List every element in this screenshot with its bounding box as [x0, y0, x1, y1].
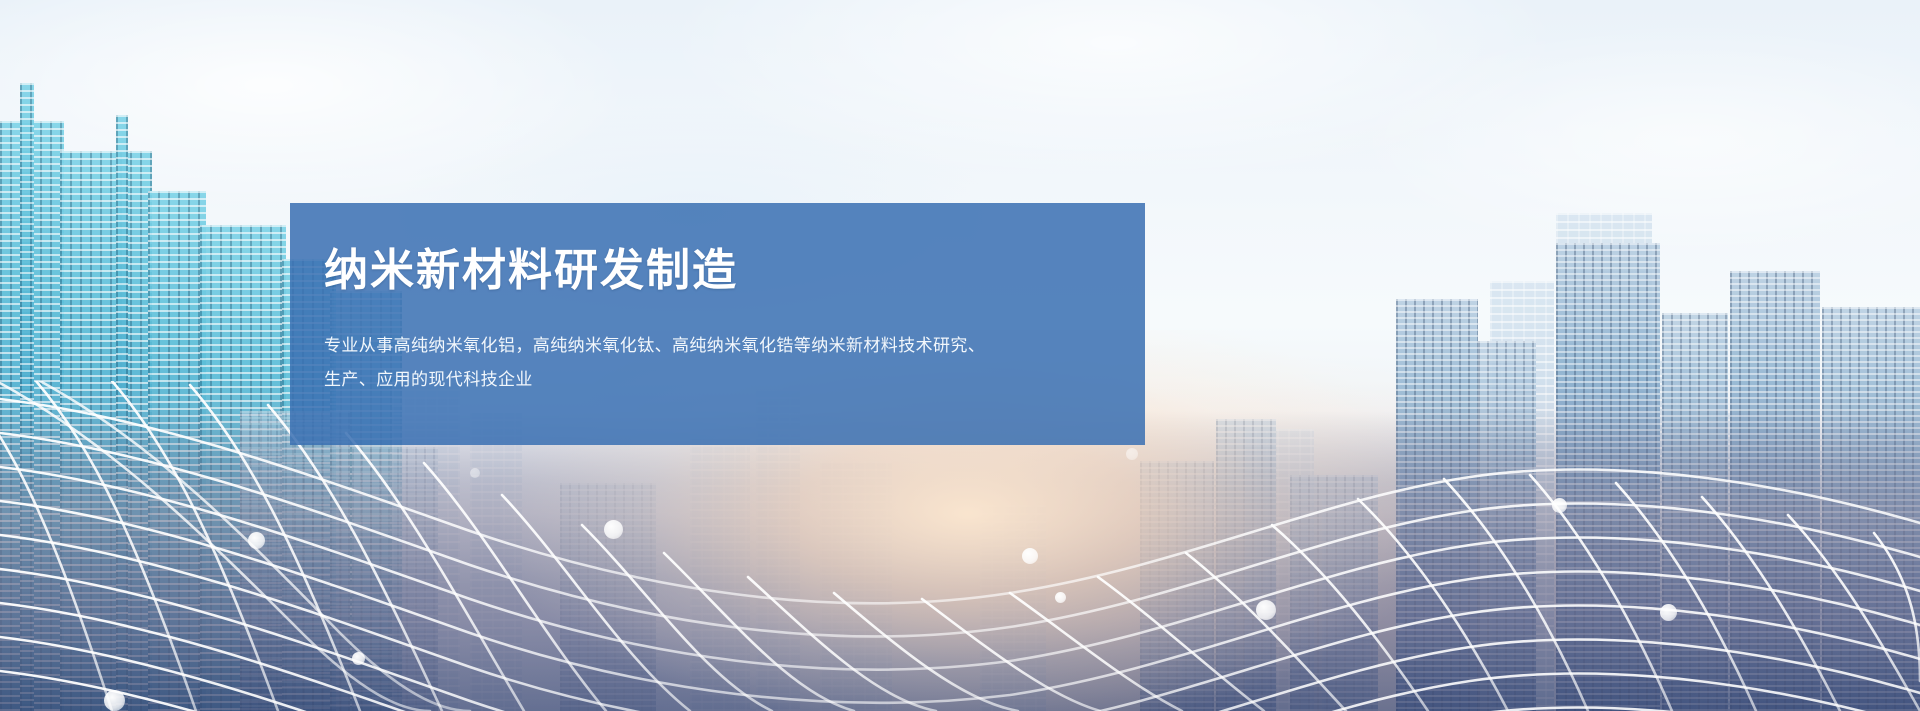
mesh-node-dot	[1126, 448, 1138, 460]
hero-subtitle-line-2: 生产、应用的现代科技企业	[324, 363, 1111, 398]
mesh-node-dot	[1022, 548, 1038, 564]
hero-subtitle: 专业从事高纯纳米氧化铝，高纯纳米氧化钛、高纯纳米氧化锆等纳米新材料技术研究、 生…	[324, 329, 1111, 399]
mesh-node-dot	[470, 468, 480, 478]
mesh-node-dot	[1256, 600, 1276, 620]
mesh-node-dot	[248, 532, 265, 549]
mesh-node-dot	[352, 652, 365, 665]
page-title: 纳米新材料研发制造	[324, 247, 1111, 295]
hero-subtitle-line-1: 专业从事高纯纳米氧化铝，高纯纳米氧化钛、高纯纳米氧化锆等纳米新材料技术研究、	[324, 329, 1111, 364]
hero-text-panel: 纳米新材料研发制造 专业从事高纯纳米氧化铝，高纯纳米氧化钛、高纯纳米氧化锆等纳米…	[290, 203, 1145, 445]
mesh-node-dot	[1055, 592, 1066, 603]
mesh-node-dot	[1552, 498, 1567, 513]
hero-banner: 纳米新材料研发制造 专业从事高纯纳米氧化铝，高纯纳米氧化钛、高纯纳米氧化锆等纳米…	[0, 0, 1920, 711]
mesh-node-dot	[1660, 604, 1677, 621]
mesh-node-dot	[604, 520, 623, 539]
mesh-node-dot	[104, 690, 125, 711]
